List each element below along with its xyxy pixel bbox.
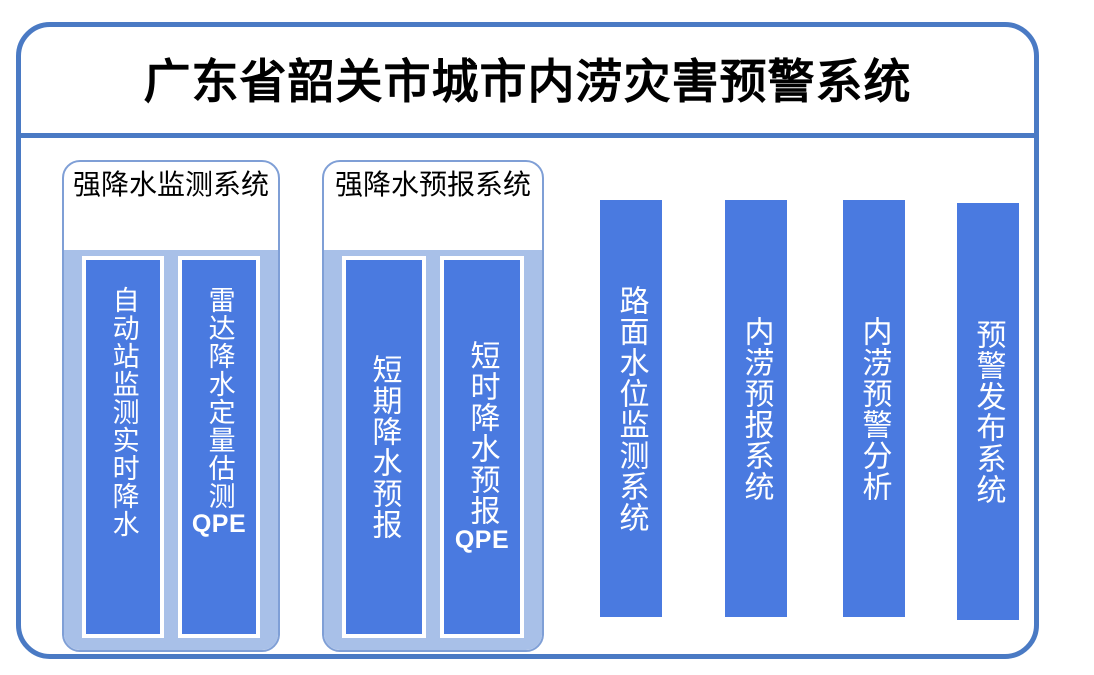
nowcast-rainfall-forecast-label: 短时降水预报 (466, 340, 499, 526)
auto-station-realtime-rainfall-bar[interactable]: 自动站监测实时降水 (82, 256, 164, 638)
warning-release-bar[interactable]: 预警发布系统 (957, 203, 1019, 620)
forecast-group-panel: 强降水预报系统 短期降水预报 短时降水预报 QPE (322, 160, 544, 652)
nowcast-rainfall-forecast-suffix: QPE (455, 526, 509, 555)
road-water-level-monitoring-label: 路面水位监测系统 (615, 285, 648, 533)
waterlogging-warning-analysis-label: 内涝预警分析 (858, 316, 891, 502)
auto-station-realtime-rainfall-label: 自动站监测实时降水 (108, 286, 137, 538)
title-divider (21, 133, 1034, 138)
waterlogging-forecast-bar[interactable]: 内涝预报系统 (725, 200, 787, 617)
road-water-level-monitoring-bar[interactable]: 路面水位监测系统 (600, 200, 662, 617)
forecast-group-title: 强降水预报系统 (324, 162, 542, 202)
monitoring-group-body: 自动站监测实时降水 雷达降水定量估测 QPE (64, 250, 278, 650)
monitoring-group-panel: 强降水监测系统 自动站监测实时降水 雷达降水定量估测 QPE (62, 160, 280, 652)
title-band: 广东省韶关市城市内涝灾害预警系统 (21, 27, 1034, 135)
forecast-group-body: 短期降水预报 短时降水预报 QPE (324, 250, 542, 650)
radar-qpe-label: 雷达降水定量估测 (204, 286, 233, 510)
short-term-rainfall-forecast-label: 短期降水预报 (368, 354, 401, 540)
waterlogging-forecast-label: 内涝预报系统 (740, 316, 773, 502)
monitoring-group-title: 强降水监测系统 (64, 162, 278, 202)
flood-warning-system-diagram: 广东省韶关市城市内涝灾害预警系统 强降水监测系统 自动站监测实时降水 雷达降水定… (0, 0, 1094, 675)
radar-qpe-bar[interactable]: 雷达降水定量估测 QPE (178, 256, 260, 638)
page-title: 广东省韶关市城市内涝灾害预警系统 (144, 58, 912, 105)
radar-qpe-suffix: QPE (192, 510, 246, 539)
waterlogging-warning-analysis-bar[interactable]: 内涝预警分析 (843, 200, 905, 617)
warning-release-label: 预警发布系统 (972, 319, 1005, 505)
nowcast-rainfall-forecast-bar[interactable]: 短时降水预报 QPE (440, 256, 524, 638)
short-term-rainfall-forecast-bar[interactable]: 短期降水预报 (342, 256, 426, 638)
